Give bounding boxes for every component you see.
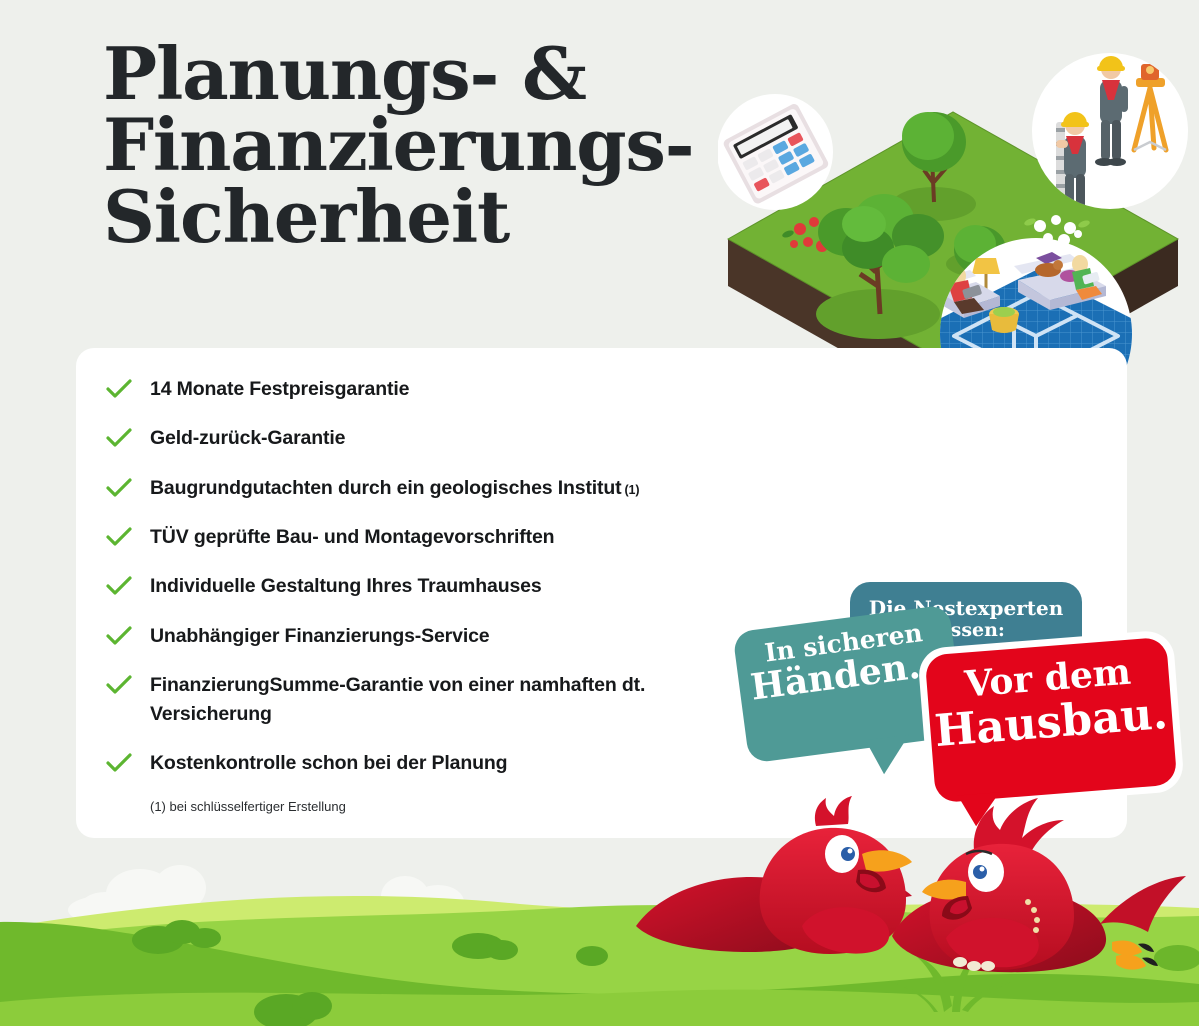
title-line-3: Sicherheit xyxy=(103,181,743,252)
check-icon xyxy=(105,525,133,549)
infographic-canvas: Planungs- & Finanzierungs- Sicherheit xyxy=(0,0,1199,1026)
calculator-inset xyxy=(718,94,833,210)
bird-beak xyxy=(922,880,966,900)
list-item: 14 Monate Festpreisgarantie xyxy=(105,375,765,404)
bird-tail xyxy=(1100,876,1186,932)
check-icon xyxy=(105,751,133,775)
list-item-label: Geld-zurück-Garantie xyxy=(150,424,345,453)
bubble-text: Vor dem Hausbau. xyxy=(926,651,1174,756)
bird-left xyxy=(636,796,912,954)
list-item: Geld-zurück-Garantie xyxy=(105,424,765,453)
list-item: FinanzierungSumme-Garantie von einer nam… xyxy=(105,671,765,729)
speech-bubble-vor-dem-hausbau: Vor dem Hausbau. xyxy=(925,637,1178,804)
bird-pupil xyxy=(973,865,987,879)
list-item-label: Baugrundgutachten durch ein geologisches… xyxy=(150,474,639,503)
list-item-label: FinanzierungSumme-Garantie von einer nam… xyxy=(150,671,710,729)
list-item-label: Kostenkontrolle schon bei der Planung xyxy=(150,749,507,778)
list-item: TÜV geprüfte Bau- und Montagevorschrifte… xyxy=(105,523,765,552)
check-icon xyxy=(105,624,133,648)
bird-beak xyxy=(862,850,912,871)
check-icon xyxy=(105,476,133,500)
list-item-label: 14 Monate Festpreisgarantie xyxy=(150,375,409,404)
check-icon xyxy=(105,426,133,450)
list-item: Unabhängiger Finanzierungs-Service xyxy=(105,622,765,651)
check-icon xyxy=(105,377,133,401)
list-item: Individuelle Gestaltung Ihres Traumhause… xyxy=(105,572,765,601)
benefits-checklist: 14 Monate Festpreisgarantie Geld-zurück-… xyxy=(105,375,765,814)
list-item-label: Individuelle Gestaltung Ihres Traumhause… xyxy=(150,572,542,601)
bird-crest xyxy=(815,796,852,826)
bird-pupil xyxy=(841,847,855,861)
footnote-marker: (1) xyxy=(625,483,640,497)
check-icon xyxy=(105,574,133,598)
check-icon xyxy=(105,673,133,697)
bubble-tail xyxy=(865,735,913,776)
list-item: Kostenkontrolle schon bei der Planung xyxy=(105,749,765,778)
page-title: Planungs- & Finanzierungs- Sicherheit xyxy=(103,38,743,252)
list-item-label: Unabhängiger Finanzierungs-Service xyxy=(150,622,489,651)
list-item: Baugrundgutachten durch ein geologisches… xyxy=(105,474,765,503)
bird-right xyxy=(892,798,1186,972)
birds-illustration xyxy=(630,796,1199,1026)
title-line-2: Finanzierungs- xyxy=(103,109,743,180)
title-line-1: Planungs- & xyxy=(103,38,743,109)
list-item-label: TÜV geprüfte Bau- und Montagevorschrifte… xyxy=(150,523,554,552)
basket xyxy=(989,307,1019,333)
